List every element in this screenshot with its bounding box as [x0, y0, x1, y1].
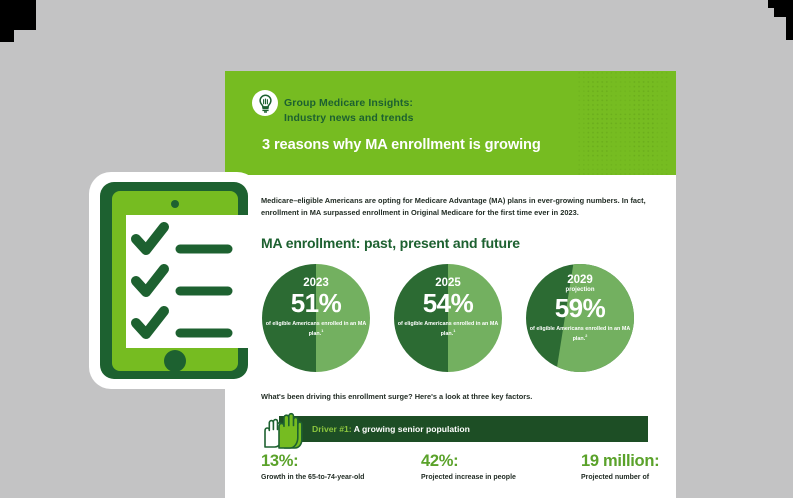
- tablet-camera-dot: [171, 200, 179, 208]
- screenshot-stage: Group Medicare Insights: Industry news a…: [0, 0, 793, 498]
- pie-value-label: 59%: [555, 295, 606, 321]
- window-corner-notch-top-right: [774, 0, 793, 17]
- pie-caption-text: of eligible Americans enrolled in an MA …: [398, 321, 498, 336]
- lightbulb-icon-circle: [252, 90, 278, 116]
- stats-row: 13%: Growth in the 65-to-74-year-old 42%…: [261, 453, 648, 484]
- lightbulb-icon: [257, 94, 274, 113]
- stat-item-2: 42%: Projected increase in people: [421, 453, 581, 484]
- driver-bar-text: Driver #1: A growing senior population: [312, 424, 470, 434]
- driver-label: Driver #1:: [312, 424, 352, 434]
- section-title: MA enrollment: past, present and future: [261, 235, 648, 251]
- stat-number: 42%:: [421, 453, 581, 470]
- pie-footnote-marker: 2: [585, 334, 587, 338]
- header-kicker: Group Medicare Insights: Industry news a…: [284, 96, 414, 126]
- driver-title: A growing senior population: [354, 424, 470, 434]
- window-corner-notch-top-right-lower: [786, 17, 793, 40]
- stat-item-1: 13%: Growth in the 65-to-74-year-old: [261, 453, 421, 484]
- pie-caption: of eligible Americans enrolled in an MA …: [262, 321, 370, 338]
- raised-hands-icon: [261, 407, 308, 449]
- stat-item-3: 19 million: Projected number of: [581, 453, 659, 484]
- tablet-checklist-illustration: [88, 171, 260, 390]
- lightbulb-icon-wrapper: [252, 90, 278, 116]
- stat-description: Growth in the 65-to-74-year-old: [261, 473, 384, 484]
- document-header: Group Medicare Insights: Industry news a…: [225, 71, 676, 175]
- document-body: Medicare–eligible Americans are opting f…: [225, 195, 676, 484]
- lead-in-paragraph: What's been driving this enrollment surg…: [261, 392, 648, 401]
- pie-chart-2025-labels: 2025 54% of eligible Americans enrolled …: [394, 264, 502, 372]
- stat-number: 13%:: [261, 453, 421, 470]
- pie-footnote-marker: 1: [453, 329, 455, 333]
- intro-paragraph: Medicare–eligible Americans are opting f…: [261, 195, 646, 219]
- stat-description: Projected increase in people: [421, 473, 544, 484]
- pie-chart-2029: 2029 projection 59% of eligible American…: [526, 264, 634, 372]
- infographic-document: Group Medicare Insights: Industry news a…: [225, 71, 676, 498]
- pie-value-label: 51%: [291, 290, 342, 316]
- pie-chart-2029-labels: 2029 projection 59% of eligible American…: [526, 264, 634, 372]
- pie-footnote-marker: 1: [321, 329, 323, 333]
- driver-section-header: Driver #1: A growing senior population: [261, 416, 648, 442]
- pie-year-label: 2029: [567, 274, 593, 286]
- pie-chart-2023: 2023 51% of eligible Americans enrolled …: [262, 264, 370, 372]
- pie-chart-2023-labels: 2023 51% of eligible Americans enrolled …: [262, 264, 370, 372]
- window-corner-notch-top-left-lower: [0, 30, 14, 42]
- pie-caption-text: of eligible Americans enrolled in an MA …: [530, 326, 630, 341]
- tablet-home-button: [164, 350, 186, 372]
- stat-description: Projected number of: [581, 473, 659, 484]
- h-watermark-dot-pattern: [578, 71, 668, 175]
- pie-chart-2025: 2025 54% of eligible Americans enrolled …: [394, 264, 502, 372]
- pie-chart-group: 2023 51% of eligible Americans enrolled …: [261, 264, 648, 372]
- header-kicker-line2: Industry news and trends: [284, 111, 414, 126]
- pie-caption: of eligible Americans enrolled in an MA …: [526, 326, 634, 343]
- pie-value-label: 54%: [423, 290, 474, 316]
- pie-caption: of eligible Americans enrolled in an MA …: [394, 321, 502, 338]
- stat-number: 19 million:: [581, 453, 659, 470]
- driver-bar: Driver #1: A growing senior population: [279, 416, 648, 442]
- header-kicker-line1: Group Medicare Insights:: [284, 96, 414, 111]
- window-corner-notch-top-left: [0, 0, 36, 30]
- page-title: 3 reasons why MA enrollment is growing: [262, 137, 541, 153]
- pie-caption-text: of eligible Americans enrolled in an MA …: [266, 321, 366, 336]
